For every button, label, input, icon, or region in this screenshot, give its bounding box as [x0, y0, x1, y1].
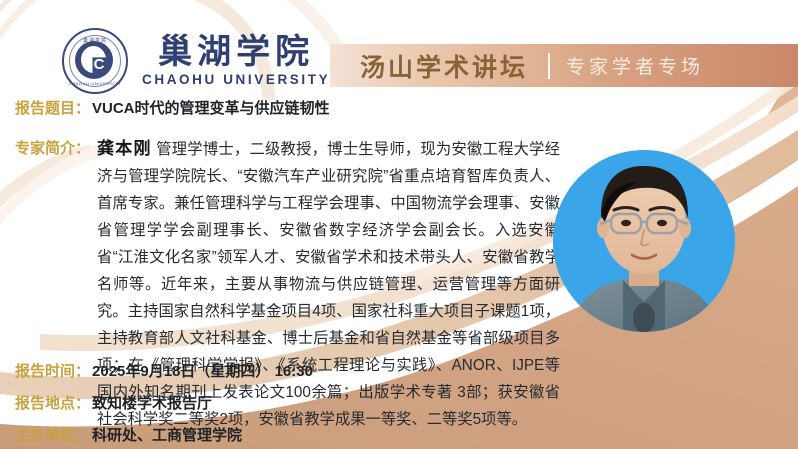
report-place-row: 报告地点： 致知楼学术报告厅 — [15, 392, 212, 413]
report-place-label: 报告地点： — [15, 392, 90, 413]
expert-portrait-photo — [553, 150, 735, 332]
report-organizer-label: 主办单位： — [15, 424, 90, 445]
report-title-row: 报告题目： VUCA时代的管理变革与供应链韧性 — [15, 97, 330, 118]
expert-name: 龚本刚 — [97, 139, 152, 158]
report-title-label: 报告题目： — [15, 97, 90, 118]
report-time-row: 报告时间： 2025年9月18日（星期四） 16:30 — [15, 360, 313, 381]
report-place-value: 致知楼学术报告厅 — [92, 392, 212, 413]
expert-bio-body: 龚本刚 管理学博士，二级教授，博士生导师，现为安徽工程大学经济与管理学院院长、“… — [97, 135, 560, 433]
expert-bio-row: 专家简介： 龚本刚 管理学博士，二级教授，博士生导师，现为安徽工程大学经济与管理… — [15, 135, 560, 433]
portrait-illustration — [553, 150, 735, 332]
expert-bio-label: 专家简介： — [15, 135, 90, 162]
poster-canvas: 巢湖学院 C CHAOHU UNIVERSITY 巢湖学院 CHAOHU UNI… — [0, 0, 798, 449]
expert-bio-text: 管理学博士，二级教授，博士生导师，现为安徽工程大学经济与管理学院院长、“安徽汽车… — [97, 141, 560, 428]
report-organizer-row: 主办单位： 科研处、工商管理学院 — [15, 424, 242, 445]
report-organizer-value: 科研处、工商管理学院 — [92, 424, 242, 445]
report-time-label: 报告时间： — [15, 360, 90, 381]
report-title-value: VUCA时代的管理变革与供应链韧性 — [92, 97, 330, 118]
report-time-value: 2025年9月18日（星期四） 16:30 — [92, 360, 313, 381]
